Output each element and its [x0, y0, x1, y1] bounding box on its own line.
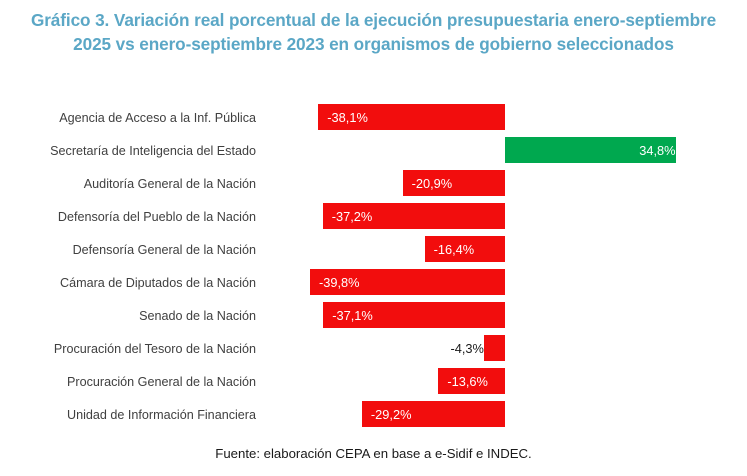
bar-track: -13,6% [0, 365, 747, 398]
bar-track: 34,8% [0, 134, 747, 167]
bar[interactable] [318, 104, 505, 130]
bar-track: -37,2% [0, 200, 747, 233]
bar-track: -4,3% [0, 332, 747, 365]
bar[interactable] [403, 170, 505, 196]
bar[interactable] [310, 269, 505, 295]
bar-row: Auditoría General de la Nación-20,9% [0, 167, 747, 200]
bar-row: Defensoría del Pueblo de la Nación-37,2% [0, 200, 747, 233]
bar[interactable] [484, 335, 505, 361]
bar-row: Agencia de Acceso a la Inf. Pública-38,1… [0, 101, 747, 134]
bar[interactable] [323, 302, 505, 328]
bar[interactable] [425, 236, 505, 262]
bar-row: Cámara de Diputados de la Nación-39,8% [0, 266, 747, 299]
bar-value-label: -4,3% [0, 335, 492, 361]
bar-row: Senado de la Nación-37,1% [0, 299, 747, 332]
bar-row: Secretaría de Inteligencia del Estado34,… [0, 134, 747, 167]
bar-track: -20,9% [0, 167, 747, 200]
bar[interactable] [323, 203, 505, 229]
bar-track: -16,4% [0, 233, 747, 266]
bar-track: -38,1% [0, 101, 747, 134]
bar-track: -29,2% [0, 398, 747, 431]
bar-row: Procuración General de la Nación-13,6% [0, 365, 747, 398]
plot-area: Agencia de Acceso a la Inf. Pública-38,1… [0, 101, 747, 432]
bar[interactable] [362, 401, 505, 427]
bar-row: Procuración del Tesoro de la Nación-4,3% [0, 332, 747, 365]
chart-source-note: Fuente: elaboración CEPA en base a e-Sid… [0, 446, 747, 461]
bar-row: Unidad de Información Financiera-29,2% [0, 398, 747, 431]
bar-row: Defensoría General de la Nación-16,4% [0, 233, 747, 266]
chart-container: Gráfico 3. Variación real porcentual de … [0, 0, 747, 476]
chart-title: Gráfico 3. Variación real porcentual de … [28, 8, 719, 57]
bar-track: -37,1% [0, 299, 747, 332]
bar[interactable] [505, 137, 676, 163]
bar[interactable] [438, 368, 505, 394]
bar-track: -39,8% [0, 266, 747, 299]
